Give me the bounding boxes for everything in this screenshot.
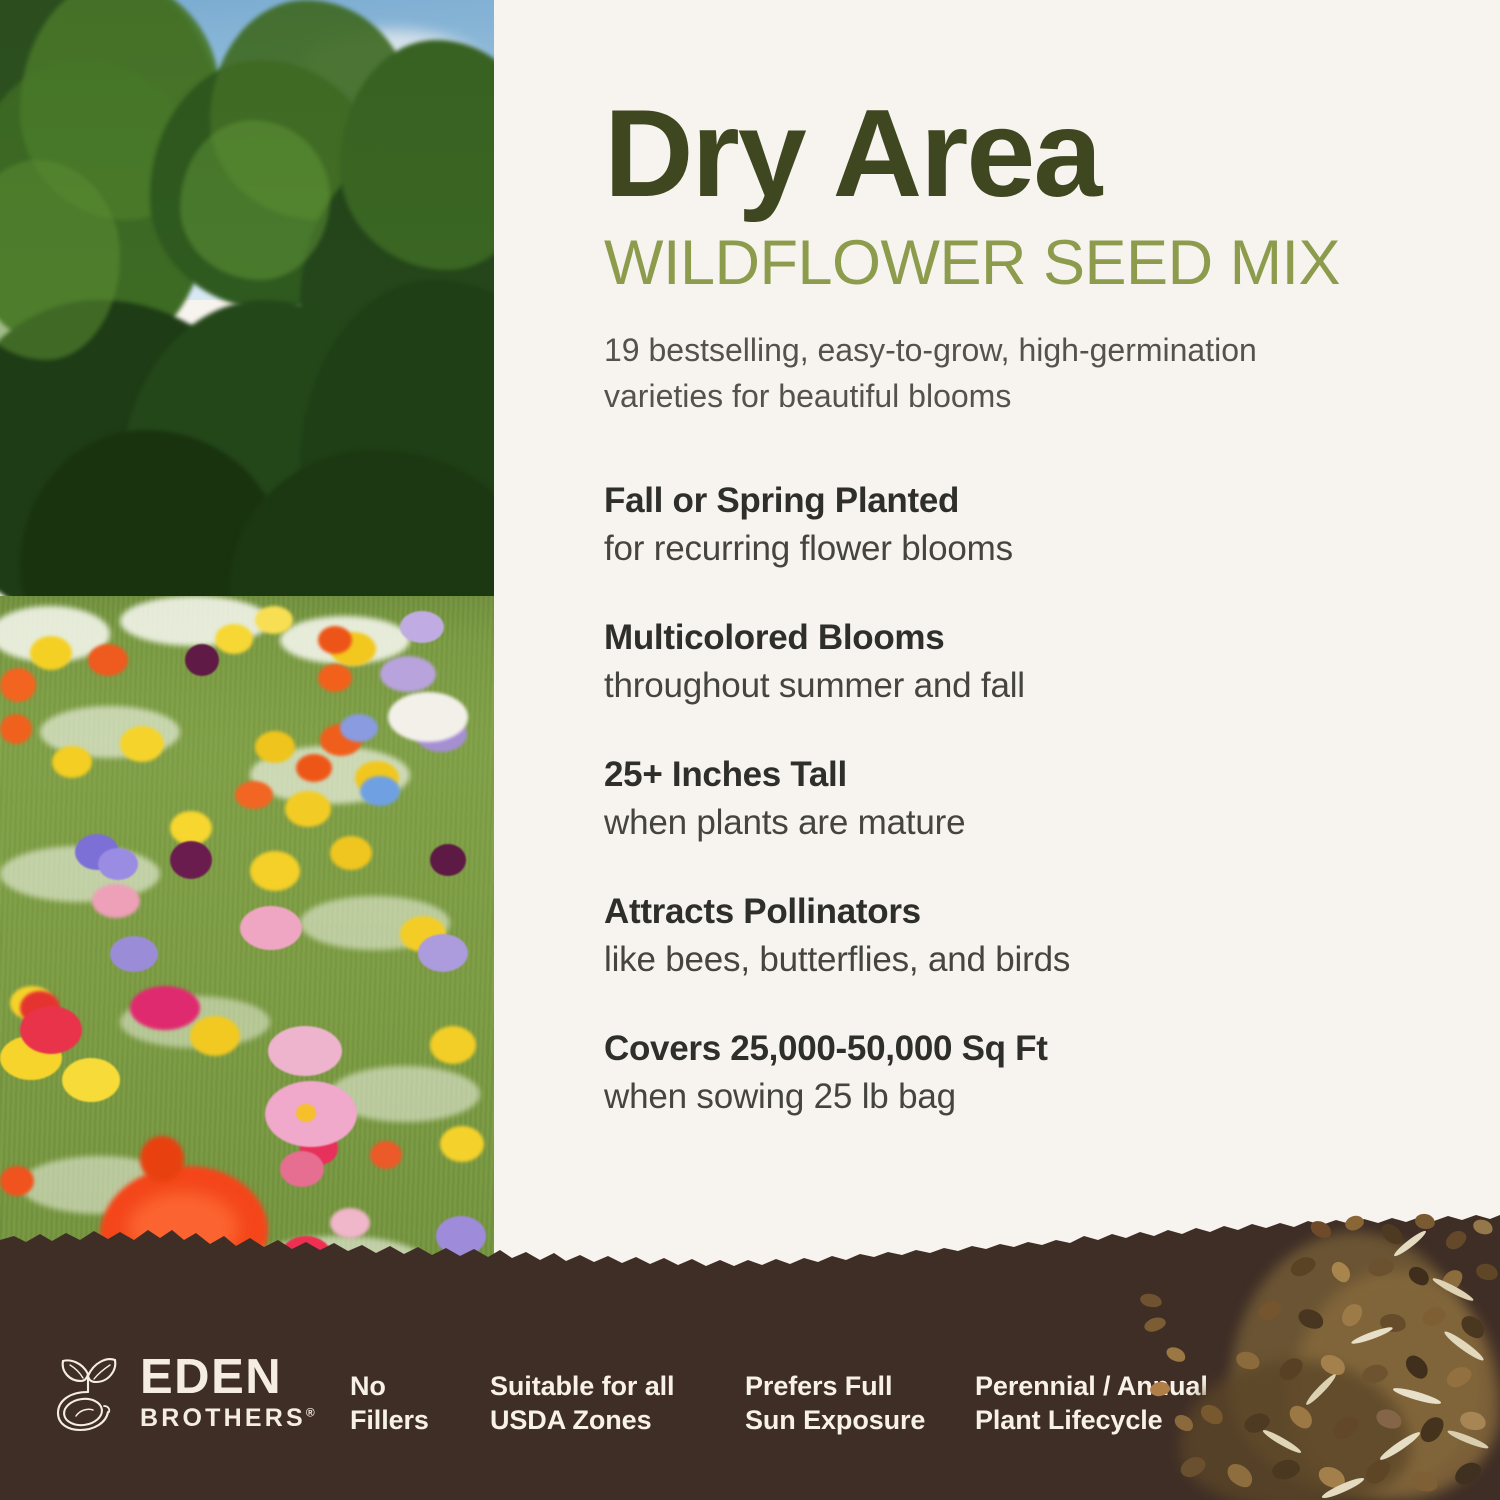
- seed: [1442, 1227, 1469, 1253]
- badge-line-2: USDA Zones: [490, 1403, 745, 1438]
- logo-brothers-text: BROTHERS: [140, 1404, 306, 1432]
- registered-trademark-symbol: ®: [306, 1405, 315, 1419]
- feature-heading: 25+ Inches Tall: [604, 753, 1434, 796]
- product-subtitle: WILDFLOWER SEED MIX: [604, 230, 1434, 296]
- feature-heading: Fall or Spring Planted: [604, 479, 1434, 522]
- product-feature-poster: Dry Area WILDFLOWER SEED MIX 19 bestsell…: [0, 0, 1500, 1500]
- eden-brothers-logo[interactable]: EDEN BROTHERS®: [52, 1354, 315, 1432]
- feature-heading: Multicolored Blooms: [604, 616, 1434, 659]
- page-title: Dry Area: [604, 0, 1434, 216]
- product-description: 19 bestselling, easy-to-grow, high-germi…: [604, 328, 1384, 419]
- badge-line-1: No: [350, 1369, 490, 1404]
- feature-item: Multicolored Blooms throughout summer an…: [604, 616, 1434, 709]
- feature-item: 25+ Inches Tall when plants are mature: [604, 753, 1434, 846]
- stray-seed: [1149, 1381, 1171, 1398]
- seed: [1471, 1217, 1495, 1237]
- feature-subtext: when sowing 25 lb bag: [604, 1074, 1434, 1120]
- logo-wordmark-primary: EDEN: [140, 1354, 315, 1401]
- seedling-sprout-icon: [52, 1354, 126, 1432]
- feature-item: Covers 25,000-50,000 Sq Ft when sowing 2…: [604, 1027, 1434, 1120]
- badge-usda-zones: Suitable for all USDA Zones: [490, 1369, 745, 1438]
- badge-sun-exposure: Prefers Full Sun Exposure: [745, 1369, 975, 1438]
- seed: [1474, 1261, 1500, 1282]
- wildflower-meadow-photo: [0, 0, 494, 1340]
- feature-subtext: like bees, butterflies, and birds: [604, 937, 1434, 983]
- seed: [1414, 1212, 1437, 1231]
- footer-badge-row: No Fillers Suitable for all USDA Zones P…: [350, 1369, 1245, 1438]
- feature-subtext: when plants are mature: [604, 800, 1434, 846]
- feature-list: Fall or Spring Planted for recurring flo…: [604, 479, 1434, 1119]
- feature-item: Fall or Spring Planted for recurring flo…: [604, 479, 1434, 572]
- feature-subtext: throughout summer and fall: [604, 663, 1434, 709]
- feature-heading: Covers 25,000-50,000 Sq Ft: [604, 1027, 1434, 1070]
- photo-vignette: [0, 0, 494, 1340]
- product-info-panel: Dry Area WILDFLOWER SEED MIX 19 bestsell…: [494, 0, 1500, 1340]
- mixed-seed-pile-image: [1140, 1210, 1500, 1500]
- brand-footer-bar: EDEN BROTHERS® No Fillers Suitable for a…: [0, 1270, 1500, 1500]
- badge-line-2: Sun Exposure: [745, 1403, 975, 1438]
- badge-line-1: Suitable for all: [490, 1369, 745, 1404]
- badge-no-fillers: No Fillers: [350, 1369, 490, 1438]
- badge-line-1: Prefers Full: [745, 1369, 975, 1404]
- seed: [1343, 1213, 1365, 1232]
- feature-heading: Attracts Pollinators: [604, 890, 1434, 933]
- feature-item: Attracts Pollinators like bees, butterfl…: [604, 890, 1434, 983]
- badge-line-2: Fillers: [350, 1403, 490, 1438]
- logo-wordmark-secondary: BROTHERS®: [140, 1405, 315, 1433]
- stray-seed: [1143, 1315, 1168, 1334]
- stray-seed: [1164, 1344, 1188, 1364]
- feature-subtext: for recurring flower blooms: [604, 526, 1434, 572]
- stray-seed: [1140, 1292, 1163, 1309]
